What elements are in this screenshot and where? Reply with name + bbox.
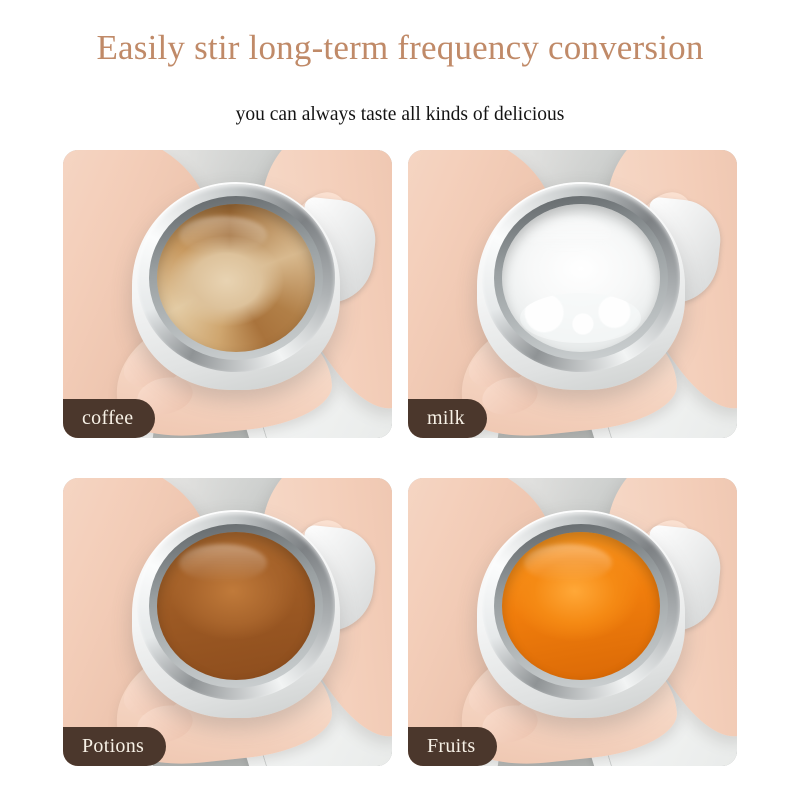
photo-card-potions[interactable]: Potions [63,478,392,766]
self-stirring-mug [477,182,685,390]
kitchen-table-background [408,478,737,766]
panel-label-coffee: coffee [63,399,155,438]
kitchen-table-background [63,150,392,438]
liquid-gloss [524,216,612,254]
feature-photo-grid: coffee [63,150,737,766]
liquid-gloss [179,544,267,582]
photo-card-fruits[interactable]: Fruits [408,478,737,766]
header: Easily stir long-term frequency conversi… [0,0,800,150]
panel-label-milk: milk [408,399,487,438]
self-stirring-mug [132,182,340,390]
self-stirring-mug [477,510,685,718]
liquid-surface-coffee [157,204,315,352]
panel-label-fruits: Fruits [408,727,497,766]
liquid-gloss [179,216,267,254]
self-stirring-mug [132,510,340,718]
panel-label-potions: Potions [63,727,166,766]
page-subtitle: you can always taste all kinds of delici… [0,103,800,127]
liquid-surface-fruits [502,532,660,680]
liquid-surface-milk [502,204,660,352]
kitchen-table-background [408,150,737,438]
kitchen-table-background [63,478,392,766]
photo-card-milk[interactable]: milk [408,150,737,438]
photo-card-coffee[interactable]: coffee [63,150,392,438]
page-title: Easily stir long-term frequency conversi… [0,28,800,68]
product-feature-page: Easily stir long-term frequency conversi… [0,0,800,800]
liquid-surface-potions [157,532,315,680]
liquid-gloss [524,544,612,582]
